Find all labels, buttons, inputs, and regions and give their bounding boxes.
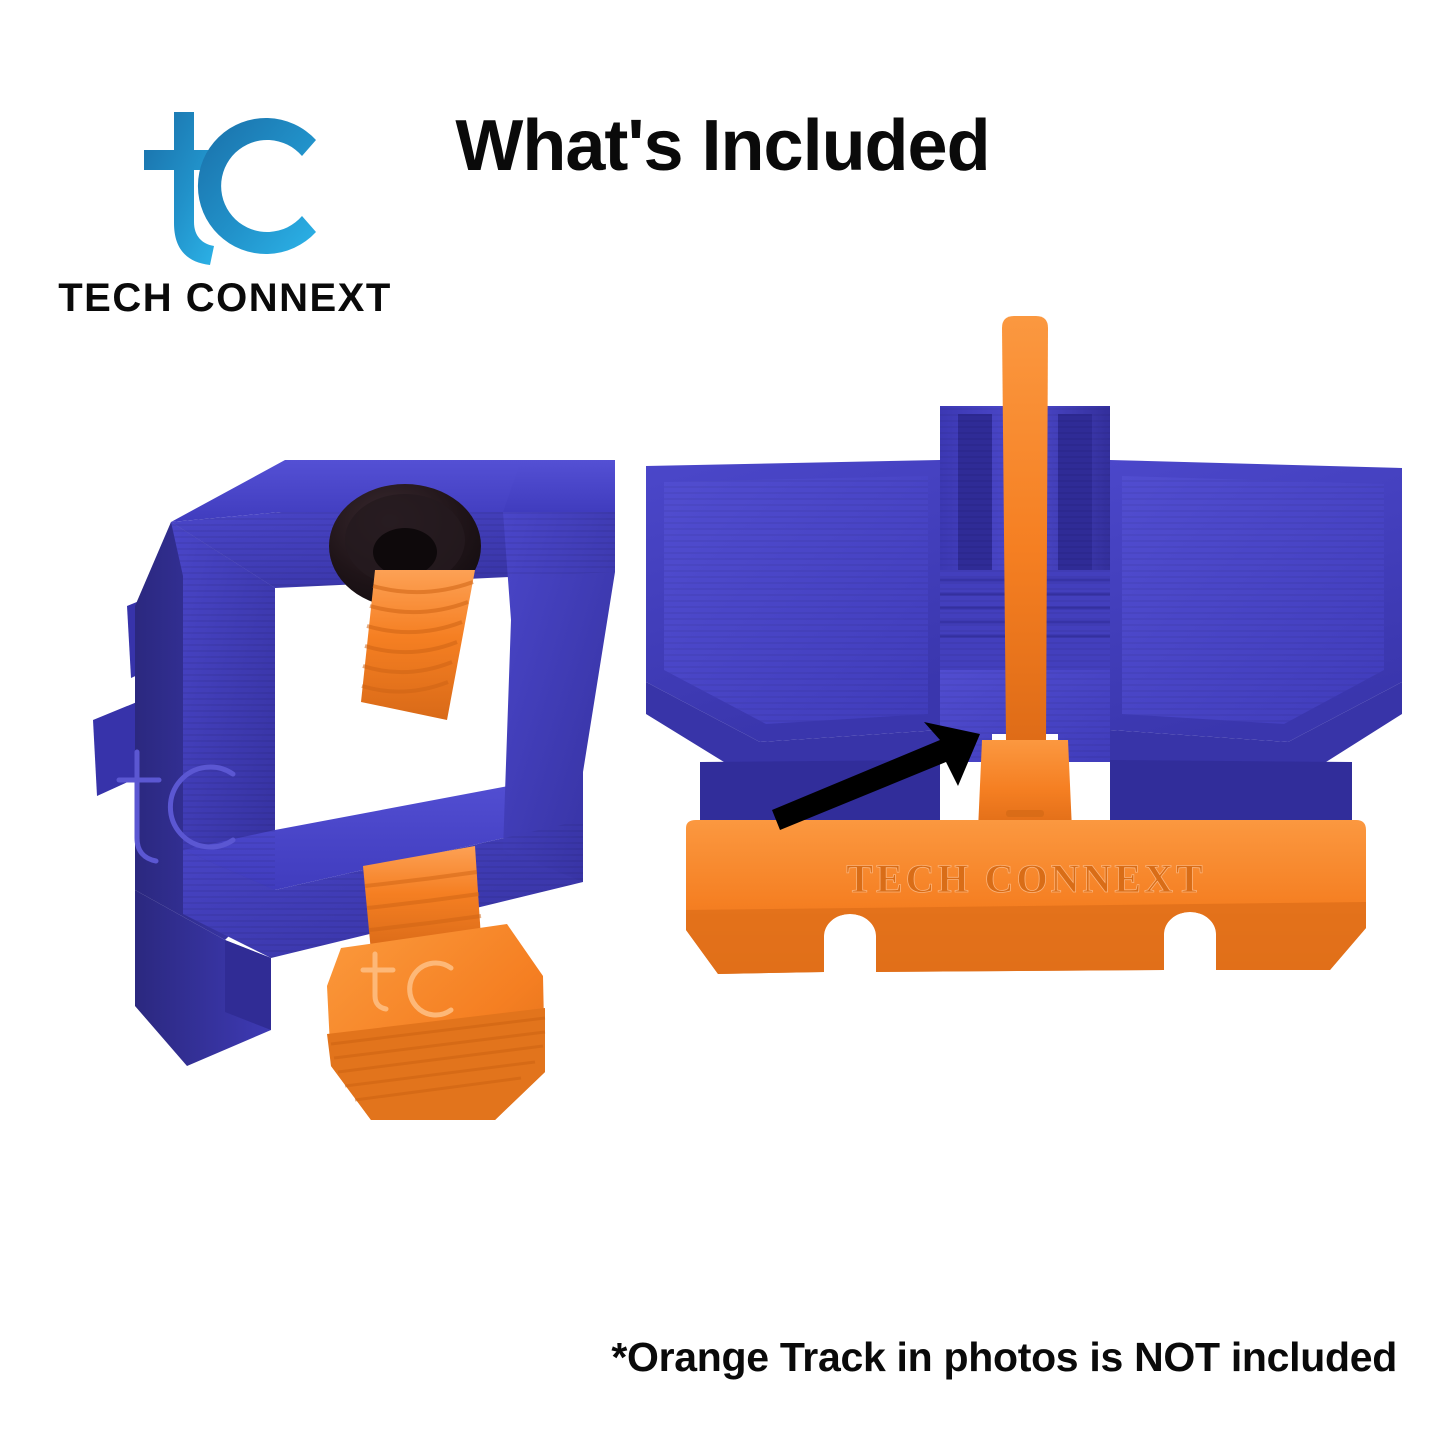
infographic-page: TECH CONNEXT What's Included: [0, 0, 1445, 1445]
clamp-screw-thread: [361, 570, 475, 720]
brand-wordmark: TECH CONNEXT: [55, 276, 395, 321]
start-gate-embossed-brand-text: TECH CONNEXT: [846, 856, 1205, 901]
start-gate-right-tray: [1110, 460, 1402, 824]
product-figure-start-gate: TECH CONNEXT 1 Start Gate: [640, 310, 1410, 1010]
product-figure-track-clamp: 1 Track Clamp: [75, 420, 645, 1150]
page-title: What's Included: [0, 105, 1445, 187]
track-clamp-photo: [75, 420, 645, 1150]
footnote-text: *Orange Track in photos is NOT included: [611, 1334, 1397, 1381]
clamp-knob: [327, 924, 545, 1120]
start-gate-photo: TECH CONNEXT: [640, 310, 1410, 1010]
